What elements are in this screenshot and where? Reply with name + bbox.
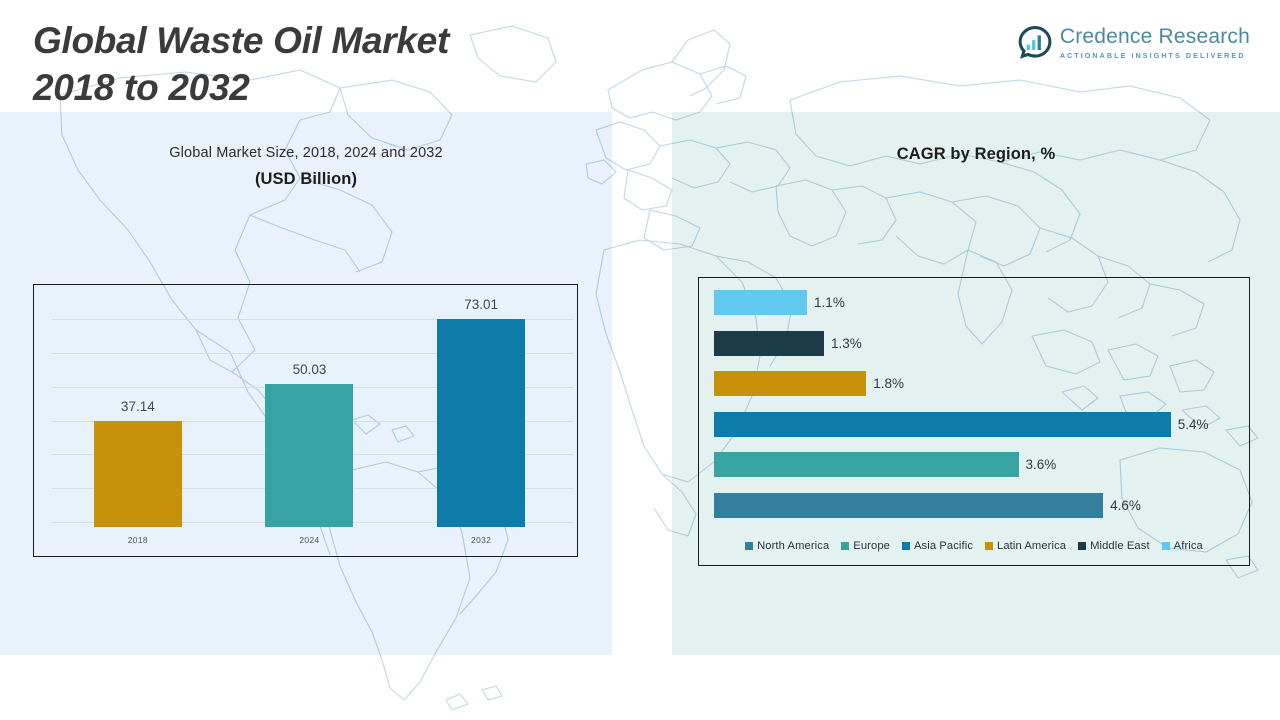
cagr-bar-value: 5.4%	[1178, 417, 1209, 432]
market-size-bar: 73.01	[437, 319, 525, 527]
cagr-legend-swatch	[902, 542, 910, 550]
cagr-chart-frame: 1.1%1.3%1.8%5.4%3.6%4.6% North AmericaEu…	[698, 277, 1250, 566]
page-title: Global Waste Oil Market 2018 to 2032	[33, 17, 449, 112]
market-size-bar-group: 73.01	[437, 293, 525, 527]
cagr-legend-label: Latin America	[997, 540, 1066, 552]
header: Global Waste Oil Market 2018 to 2032 Cre…	[0, 0, 1280, 112]
infographic-canvas: Global Waste Oil Market 2018 to 2032 Cre…	[0, 0, 1280, 720]
cagr-legend-item: Asia Pacific	[902, 540, 973, 552]
brand-logo: Credence Research Actionable Insights De…	[1018, 26, 1250, 60]
cagr-bar	[714, 452, 1019, 477]
cagr-legend-item: North America	[745, 540, 829, 552]
cagr-legend-item: Middle East	[1078, 540, 1150, 552]
market-size-chart-heading: Global Market Size, 2018, 2024 and 2032 …	[0, 145, 612, 189]
cagr-legend-label: Europe	[853, 540, 890, 552]
market-size-x-tick: 2018	[94, 535, 182, 545]
cagr-bar-value: 1.1%	[814, 295, 845, 310]
market-size-x-tick: 2024	[265, 535, 353, 545]
market-size-bar-value: 73.01	[464, 297, 498, 312]
cagr-legend-item: Africa	[1162, 540, 1203, 552]
market-size-chart-block: Global Market Size, 2018, 2024 and 2032 …	[0, 145, 612, 189]
cagr-legend-label: North America	[757, 540, 829, 552]
market-size-bar-value: 37.14	[121, 399, 155, 414]
cagr-bar-value: 1.3%	[831, 336, 862, 351]
cagr-bar-row: 3.6%	[714, 452, 1241, 477]
cagr-chart-block: CAGR by Region, % 1.1%1.3%1.8%5.4%3.6%4.…	[672, 145, 1280, 164]
cagr-legend-swatch	[1162, 542, 1170, 550]
cagr-bar-value: 4.6%	[1110, 498, 1141, 513]
cagr-legend-item: Europe	[841, 540, 890, 552]
cagr-legend: North AmericaEuropeAsia PacificLatin Ame…	[699, 540, 1249, 552]
cagr-legend-label: Middle East	[1090, 540, 1150, 552]
market-size-x-axis: 201820242032	[52, 530, 567, 550]
cagr-bar-row: 4.6%	[714, 493, 1241, 518]
cagr-bar	[714, 290, 807, 315]
market-size-plot-area: 37.1450.0373.01	[52, 293, 567, 527]
cagr-bar	[714, 331, 824, 356]
bar-chart-bubble-icon	[1018, 26, 1052, 60]
logo-tagline: Actionable Insights Delivered	[1060, 51, 1250, 60]
cagr-legend-swatch	[985, 542, 993, 550]
cagr-legend-label: Africa	[1174, 540, 1203, 552]
cagr-bar	[714, 493, 1103, 518]
market-size-heading-line-1: Global Market Size, 2018, 2024 and 2032	[0, 145, 612, 161]
market-size-bar: 37.14	[94, 421, 182, 527]
cagr-bar-value: 3.6%	[1026, 457, 1057, 472]
cagr-bar-row: 1.1%	[714, 290, 1241, 315]
market-size-heading-line-2: (USD Billion)	[0, 170, 612, 189]
cagr-chart-heading: CAGR by Region, %	[672, 145, 1280, 164]
market-size-chart-frame: 37.1450.0373.01 201820242032	[33, 284, 578, 557]
cagr-bar-row: 5.4%	[714, 412, 1241, 437]
cagr-bar	[714, 371, 866, 396]
cagr-bar-row: 1.8%	[714, 371, 1241, 396]
market-size-bar-group: 37.14	[94, 293, 182, 527]
cagr-legend-label: Asia Pacific	[914, 540, 973, 552]
market-size-x-tick: 2032	[437, 535, 525, 545]
cagr-plot-area: 1.1%1.3%1.8%5.4%3.6%4.6%	[714, 290, 1241, 518]
market-size-bar-group: 50.03	[265, 293, 353, 527]
cagr-legend-item: Latin America	[985, 540, 1066, 552]
cagr-heading-text: CAGR by Region, %	[672, 145, 1280, 164]
cagr-bar	[714, 412, 1171, 437]
market-size-bar: 50.03	[265, 384, 353, 527]
logo-company-name: Credence Research	[1060, 26, 1250, 48]
cagr-legend-swatch	[745, 542, 753, 550]
cagr-bar-value: 1.8%	[873, 376, 904, 391]
cagr-bar-row: 1.3%	[714, 331, 1241, 356]
market-size-bar-value: 50.03	[293, 362, 327, 377]
cagr-legend-swatch	[1078, 542, 1086, 550]
logo-text-group: Credence Research Actionable Insights De…	[1060, 26, 1250, 60]
cagr-legend-swatch	[841, 542, 849, 550]
